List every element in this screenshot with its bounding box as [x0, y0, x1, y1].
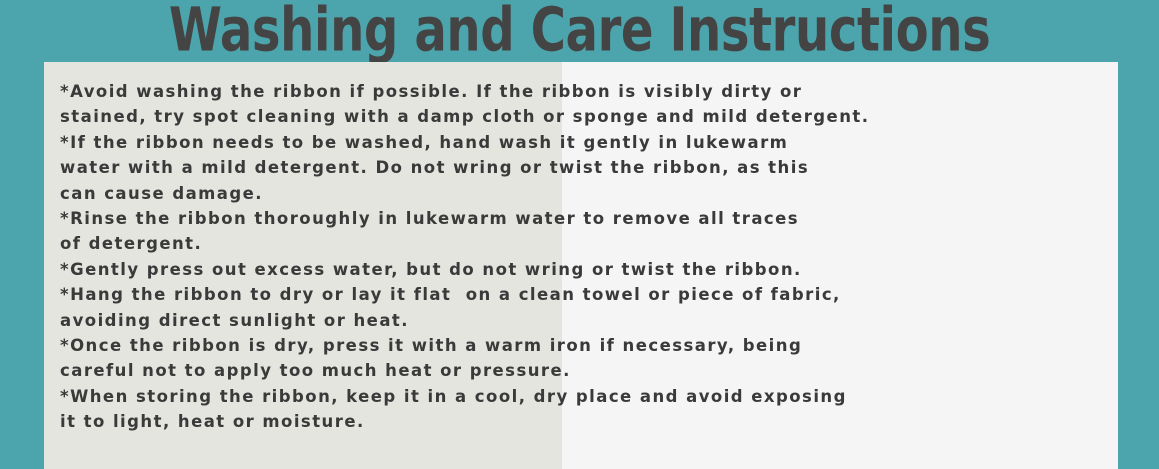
instructions-panel: *Avoid washing the ribbon if possible. I… — [44, 62, 1118, 469]
page-title: Washing and Care Instructions — [169, 0, 991, 62]
title-bar: Washing and Care Instructions — [0, 0, 1159, 62]
instructions-body-text: *Avoid washing the ribbon if possible. I… — [44, 62, 1118, 435]
care-instructions-poster: Washing and Care Instructions *Avoid was… — [0, 0, 1159, 469]
